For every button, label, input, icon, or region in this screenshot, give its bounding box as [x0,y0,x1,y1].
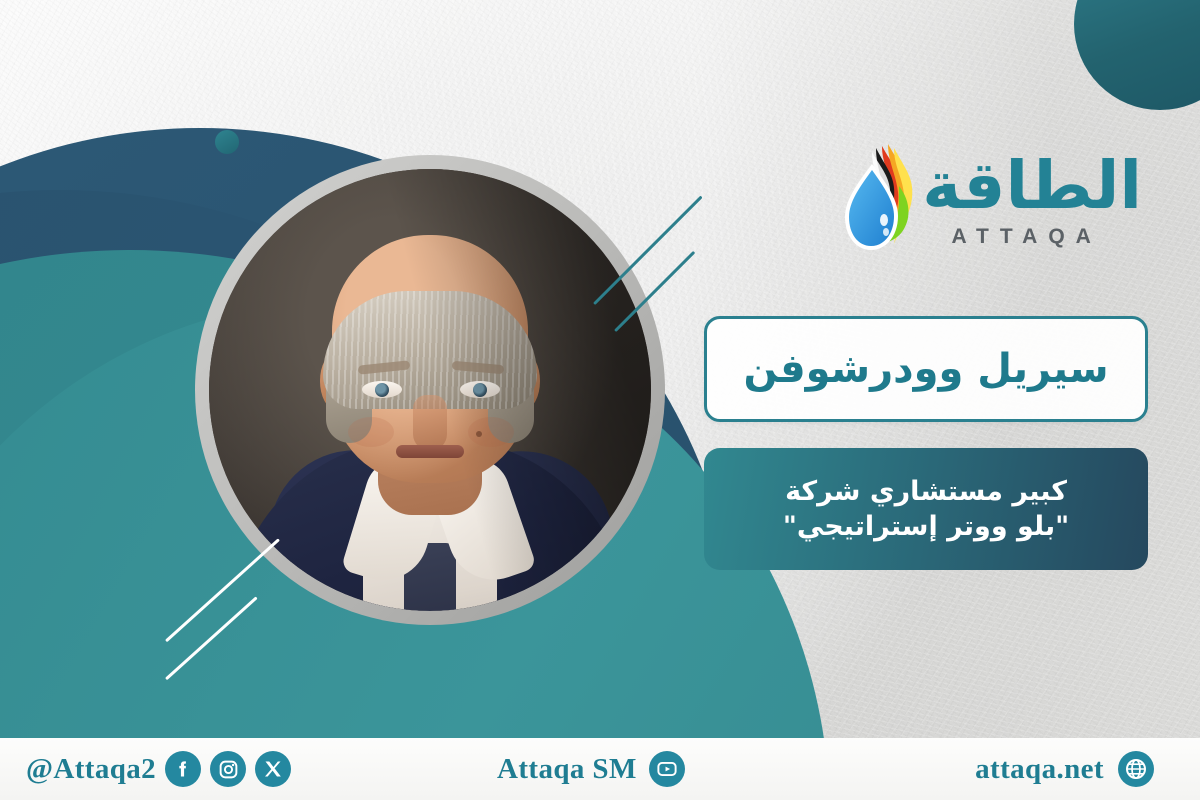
globe-icon[interactable] [1118,751,1154,787]
logo-latin-text: ATTAQA [951,225,1112,249]
facebook-icon[interactable] [165,751,201,787]
logo-wordmark: الطاقة ATTAQA [922,153,1142,249]
person-role-box: كبير مستشاري شركة "بلو ووتر إستراتيجي" [704,448,1148,570]
person-role-line-1: كبير مستشاري شركة [785,476,1067,507]
logo-arabic-text: الطاقة [922,153,1142,219]
small-dot-decoration [215,130,239,154]
portrait [195,155,665,625]
person-name-box: سيريل وودرشوفن [704,316,1148,422]
person-role-line-2: "بلو ووتر إستراتيجي" [783,511,1069,542]
x-twitter-icon[interactable] [255,751,291,787]
person-name: سيريل وودرشوفن [743,346,1108,392]
corner-circle-decoration [1074,0,1200,110]
attaqa-logo[interactable]: الطاقة ATTAQA [842,142,1142,260]
footer-bar: @Attaqa2 Attaqa SM attaqa.net [0,738,1200,800]
footer-youtube-group[interactable]: Attaqa SM [497,751,685,787]
footer-social-group: @Attaqa2 [18,751,291,787]
energy-droplet-icon [842,142,916,260]
social-card: الطاقة ATTAQA [0,0,1200,800]
website-label[interactable]: attaqa.net [975,753,1104,786]
instagram-icon[interactable] [210,751,246,787]
youtube-channel-label[interactable]: Attaqa SM [497,753,637,786]
youtube-icon[interactable] [649,751,685,787]
social-handle-label[interactable]: @Attaqa2 [26,753,156,786]
footer-website-group[interactable]: attaqa.net [975,751,1154,787]
